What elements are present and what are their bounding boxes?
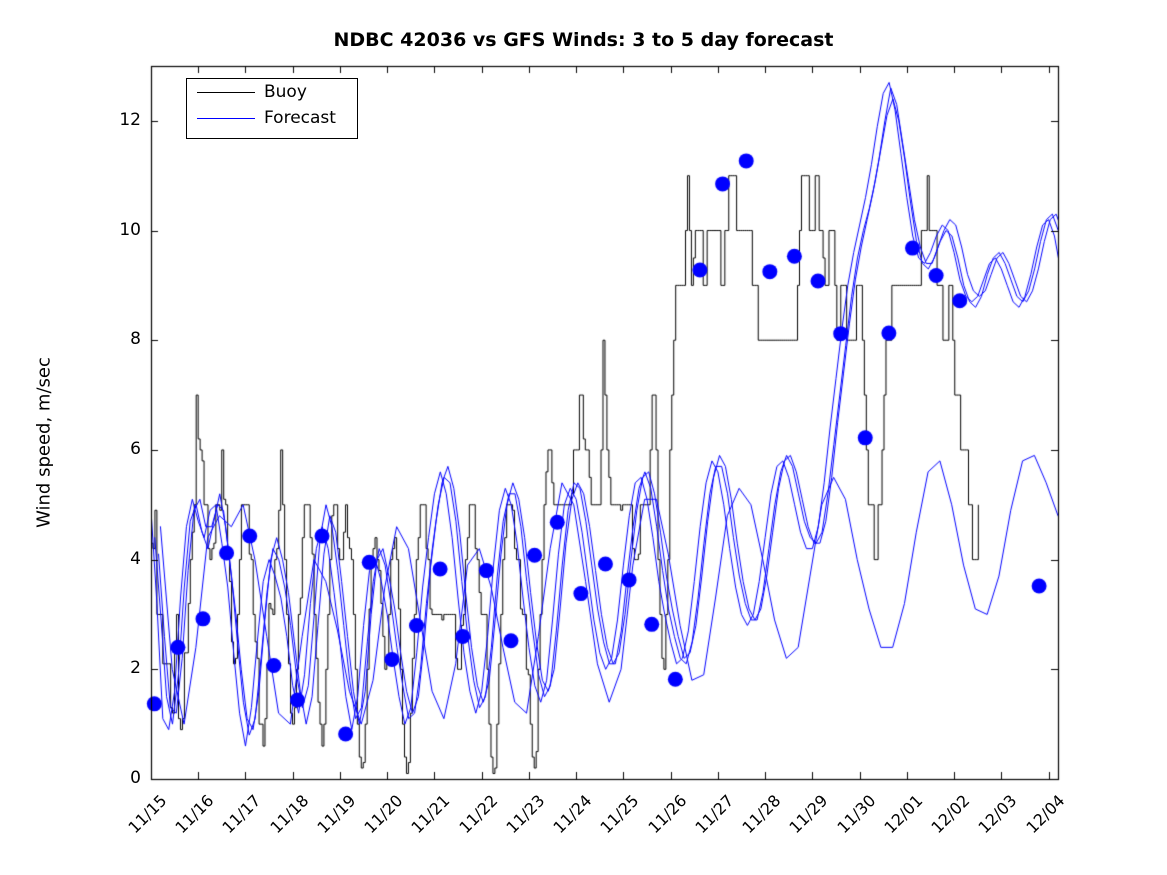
- legend-item-forecast: Forecast: [187, 105, 357, 131]
- legend-label-buoy: Buoy: [264, 84, 307, 101]
- y-tick-label: 8: [101, 329, 141, 349]
- y-tick-label: 2: [101, 658, 141, 678]
- legend-label-forecast: Forecast: [264, 110, 336, 127]
- y-tick-label: 4: [101, 549, 141, 569]
- y-tick-label: 12: [101, 110, 141, 130]
- y-tick-label: 0: [101, 768, 141, 788]
- y-tick-label: 6: [101, 439, 141, 459]
- legend: Buoy Forecast: [186, 78, 358, 139]
- plot-area: [0, 0, 1167, 875]
- legend-item-buoy: Buoy: [187, 79, 357, 105]
- legend-swatch-forecast: [197, 118, 255, 119]
- legend-swatch-buoy: [197, 92, 255, 93]
- y-tick-label: 10: [101, 220, 141, 240]
- chart-figure: NDBC 42036 vs GFS Winds: 3 to 5 day fore…: [0, 0, 1167, 875]
